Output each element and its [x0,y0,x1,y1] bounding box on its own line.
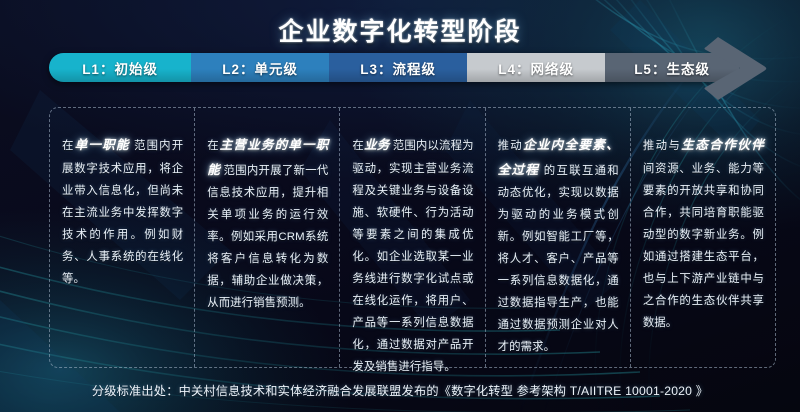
slide-canvas: 企业数字化转型阶段 L1：初始级 L2：单元级 L3：流程级 L4：网络级 L5… [0,0,800,412]
stage-card-l2: 在主营业务的单一职能 范围内开展了新一代信息技术应用，提升相关单项业务的运行效率… [195,108,340,367]
stage-card-l3-lead: 在 [352,140,364,152]
stage-card-l1-body: 范围内开展数字技术应用，将企业带入信息化，但尚未在主流业务中发挥数字技术的作用。… [62,140,183,284]
stage-segment-l4[interactable]: L4：网络级 [467,53,605,82]
stage-segment-l2-label: L2：单元级 [222,58,298,78]
stage-card-l4-lead: 推动 [498,140,523,152]
stage-card-l3-text: 在业务 范围内以流程为驱动，实现主营业务流程及关键业务与设备设施、软硬件、行为活… [352,133,473,377]
stage-card-l5-highlight: 生态合作伙伴 [681,138,764,152]
stage-card-l4-text: 推动企业内全要素、全过程 的互联互通和动态优化，实现以数据为驱动的业务模式创新。… [498,133,619,358]
stage-card-l5-body: 间资源、业务、能力等要素的开放共享和协同合作，共同培育职能驱动型的数字新业务。例… [643,163,764,329]
stage-segment-l1[interactable]: L1：初始级 [49,53,191,82]
stage-card-l1-lead: 在 [62,140,75,152]
stage-segment-l3[interactable]: L3：流程级 [329,53,467,82]
stage-description-cards: 在单一职能 范围内开展数字技术应用，将企业带入信息化，但尚未在主流业务中发挥数字… [49,107,776,368]
stage-card-l5: 推动与生态合作伙伴 间资源、业务、能力等要素的开放共享和协同合作，共同培育职能驱… [631,108,775,367]
stage-card-l1: 在单一职能 范围内开展数字技术应用，将企业带入信息化，但尚未在主流业务中发挥数字… [50,108,195,367]
stage-card-l3-body: 范围内以流程为驱动，实现主营业务流程及关键业务与设备设施、软硬件、行为活动等要素… [352,140,473,372]
stage-segment-l4-label: L4：网络级 [498,58,574,78]
stage-card-l2-text: 在主营业务的单一职能 范围内开展了新一代信息技术应用，提升相关单项业务的运行效率… [207,133,328,314]
stage-card-l3: 在业务 范围内以流程为驱动，实现主营业务流程及关键业务与设备设施、软硬件、行为活… [340,108,485,367]
stage-card-l2-lead: 在 [207,140,220,152]
stage-card-l1-text: 在单一职能 范围内开展数字技术应用，将企业带入信息化，但尚未在主流业务中发挥数字… [62,133,183,289]
right-arrow-icon [700,33,774,103]
title-container: 企业数字化转型阶段 [0,12,800,48]
maturity-stage-bar: L1：初始级 L2：单元级 L3：流程级 L4：网络级 L5：生态级 [49,53,739,82]
source-note: 分级标准出处：中关村信息技术和实体经济融合发展联盟发布的《数字化转型 参考架构 … [0,381,800,399]
stage-segment-l1-label: L1：初始级 [82,58,158,78]
stage-card-l4: 推动企业内全要素、全过程 的互联互通和动态优化，实现以数据为驱动的业务模式创新。… [486,108,631,367]
page-title: 企业数字化转型阶段 [278,12,521,48]
stage-card-l2-body: 范围内开展了新一代信息技术应用，提升相关单项业务的运行效率。例如采用CRM系统将… [207,165,328,309]
stage-segment-l2[interactable]: L2：单元级 [191,53,329,82]
stage-segment-l5-label: L5：生态级 [634,58,710,78]
stage-card-l1-highlight: 单一职能 [75,138,130,152]
stage-segment-l3-label: L3：流程级 [360,58,436,78]
stage-card-l5-lead: 推动与 [643,140,681,152]
stage-card-l3-highlight: 业务 [364,138,390,152]
stage-card-l4-body: 的互联互通和动态优化，实现以数据为驱动的业务模式创新。例如智能工厂等，将人才、客… [498,165,619,353]
stage-card-l5-text: 推动与生态合作伙伴 间资源、业务、能力等要素的开放共享和协同合作，共同培育职能驱… [643,133,764,333]
